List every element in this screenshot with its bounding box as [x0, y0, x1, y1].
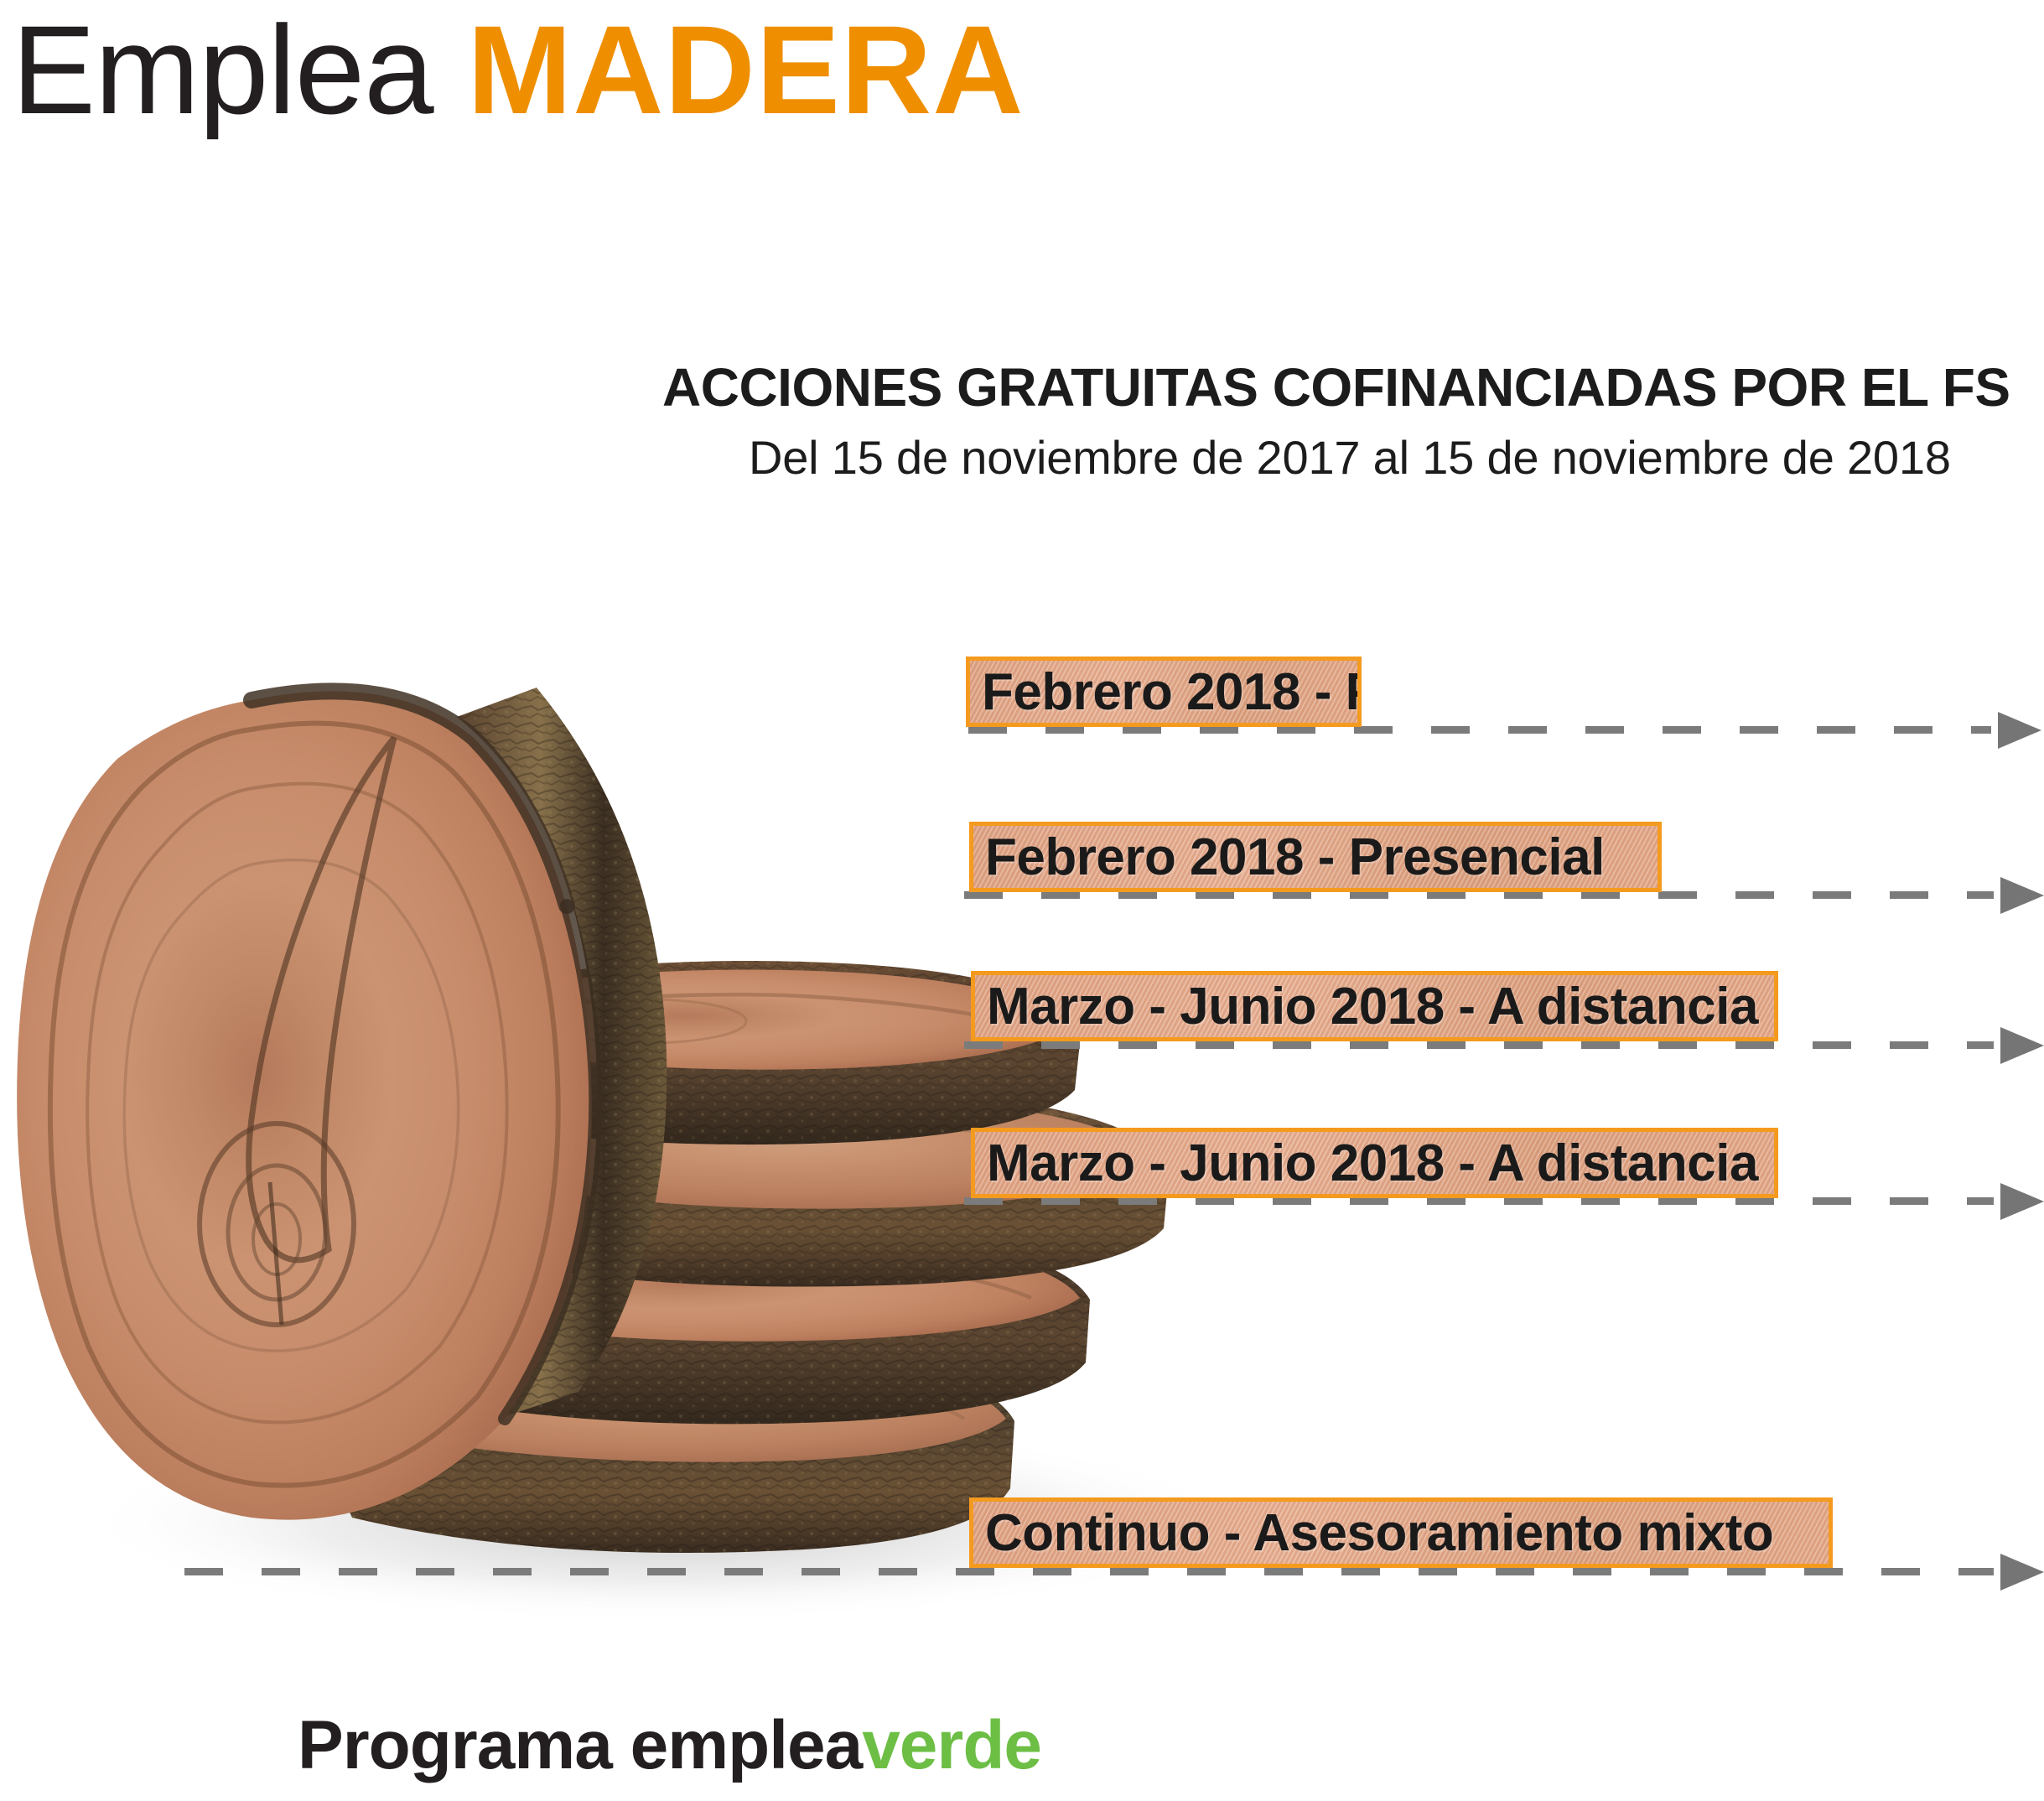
title-emplea: Emplea: [12, 0, 467, 140]
arrow-head-icon-3: [2000, 1027, 2044, 1064]
footer-programa-emplea: Programa emplea: [298, 1707, 862, 1783]
footer-verde: verde: [862, 1707, 1041, 1783]
timeline-arrow-1: [968, 726, 2044, 734]
poster-title: Emplea MADERA: [12, 7, 1025, 132]
poster-root: Emplea MADERA ACCIONES GRATUITAS COFINAN…: [0, 0, 2044, 1801]
timeline-label-2-text: Febrero 2018 - Presencial: [973, 828, 1615, 887]
header-daterange: Del 15 de noviembre de 2017 al 15 de nov…: [749, 430, 1951, 485]
timeline-label-5[interactable]: Continuo - Asesoramiento mixto: [969, 1497, 1833, 1568]
dashed-line-1: [968, 726, 1991, 734]
timeline-label-3[interactable]: Marzo - Junio 2018 - A distancia: [971, 971, 1778, 1041]
arrow-head-icon-1: [1998, 712, 2041, 749]
timeline-arrow-4: [964, 1197, 2044, 1206]
title-madera: MADERA: [467, 0, 1024, 140]
timeline-label-4[interactable]: Marzo - Junio 2018 - A distancia: [971, 1128, 1778, 1198]
timeline-label-5-text: Continuo - Asesoramiento mixto: [973, 1503, 1783, 1563]
timeline-arrow-2: [964, 891, 2044, 900]
timeline-label-1-text: Febrero 2018 - Presencial: [970, 662, 1362, 722]
arrow-head-icon-2: [2000, 877, 2044, 914]
program-footer: Programa empleaverde: [298, 1706, 1041, 1785]
arrow-head-icon-4: [2000, 1183, 2044, 1220]
timeline-arrow-5: [184, 1568, 2044, 1576]
dashed-line-5: [184, 1568, 1994, 1575]
dashed-line-4: [964, 1197, 1994, 1205]
timeline-arrow-3: [964, 1041, 2044, 1050]
timeline-label-1[interactable]: Febrero 2018 - Presencial: [966, 657, 1362, 727]
timeline-label-3-text: Marzo - Junio 2018 - A distancia: [975, 977, 1768, 1036]
timeline-label-2[interactable]: Febrero 2018 - Presencial: [969, 822, 1662, 892]
dashed-line-2: [964, 891, 1994, 899]
arrow-head-icon-5: [2000, 1554, 2044, 1591]
timeline-label-4-text: Marzo - Junio 2018 - A distancia: [975, 1134, 1768, 1193]
header-headline: ACCIONES GRATUITAS COFINANCIADAS POR EL …: [662, 356, 2010, 418]
dashed-line-3: [964, 1041, 1994, 1049]
